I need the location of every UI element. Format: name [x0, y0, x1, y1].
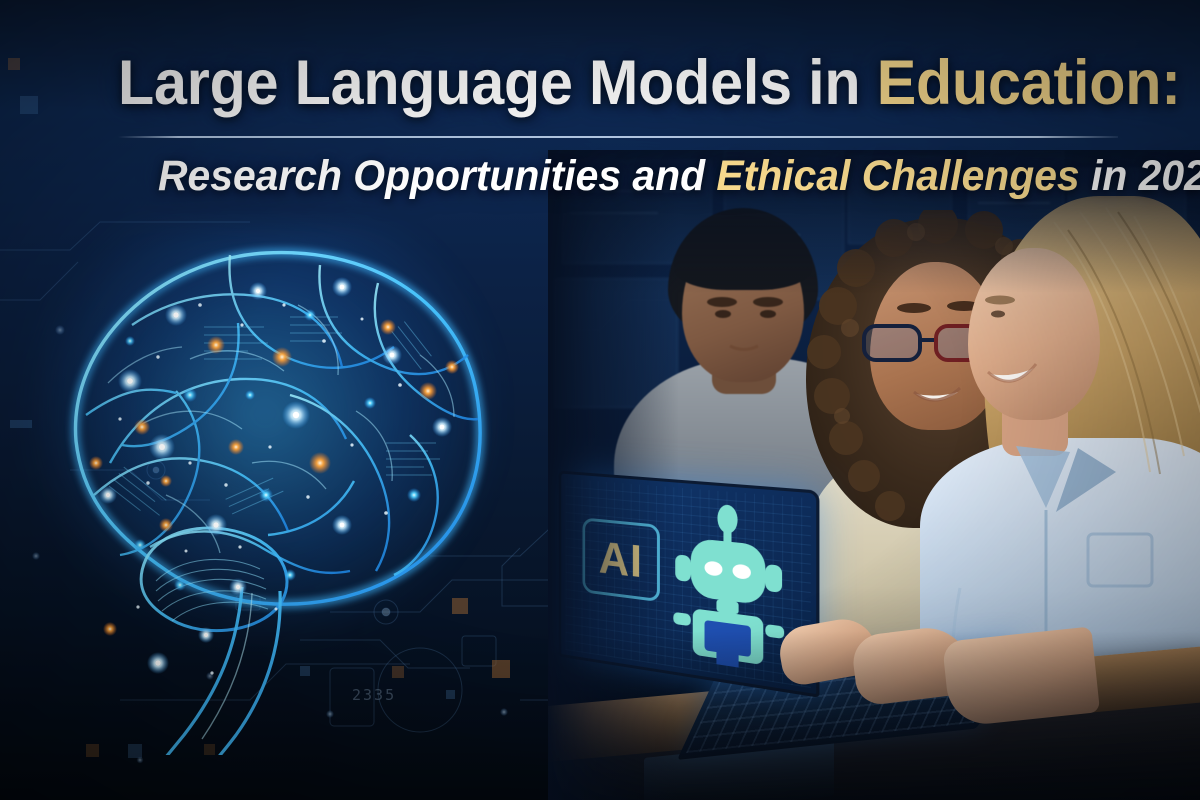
vignette: [0, 0, 1200, 800]
poster-canvas: 2335: [0, 0, 1200, 800]
